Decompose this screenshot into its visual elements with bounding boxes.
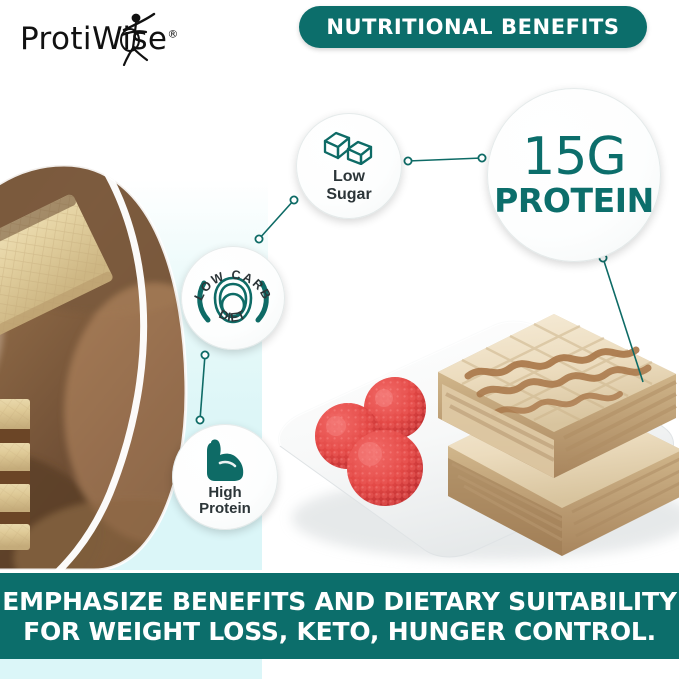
brand-logo-text: ProtiWise® [20, 24, 179, 55]
high-protein-label: High Protein [199, 485, 251, 517]
diet-arc-text: DIET [217, 307, 249, 325]
caption-banner: EMPHASIZE BENEFITS AND DIETARY SUITABILI… [0, 573, 679, 659]
svg-text:DIET: DIET [217, 307, 249, 325]
brand-logo: ProtiWise® [20, 16, 179, 62]
protein-amount: 15G [522, 132, 625, 183]
product-photo-left [0, 163, 194, 570]
caption-line-1: EMPHASIZE BENEFITS AND DIETARY SUITABILI… [2, 587, 676, 616]
nutritional-benefits-banner: NUTRITIONAL BENEFITS [299, 6, 647, 48]
low-sugar-label: Low Sugar [326, 168, 371, 203]
high-protein-label-line2: Protein [199, 500, 251, 517]
badge-low-sugar: Low Sugar [296, 113, 402, 219]
high-protein-label-line1: High [208, 484, 241, 501]
footer-strip-tint [0, 659, 262, 679]
low-sugar-label-line1: Low [333, 168, 365, 185]
badge-high-protein: High Protein [172, 424, 278, 530]
product-photo-plated [262, 268, 679, 570]
sugar-cubes-icon [322, 129, 376, 165]
flexed-bicep-icon [201, 437, 249, 483]
low-sugar-label-line2: Sugar [326, 186, 371, 203]
low-carb-diet-emblem: LOW CARB DIET [185, 250, 281, 346]
protein-label: PROTEIN [494, 184, 654, 218]
marketing-image: ProtiWise® NUTRITIONAL BENEFITS [0, 0, 679, 679]
badge-low-carb-diet: LOW CARB DIET [181, 246, 285, 350]
nutritional-benefits-label: NUTRITIONAL BENEFITS [326, 15, 619, 39]
registered-trademark: ® [167, 27, 178, 40]
badge-protein: 15G PROTEIN [487, 88, 661, 262]
dancing-figure-icon [116, 10, 162, 66]
caption-line-2: FOR WEIGHT LOSS, KETO, HUNGER CONTROL. [23, 617, 656, 646]
